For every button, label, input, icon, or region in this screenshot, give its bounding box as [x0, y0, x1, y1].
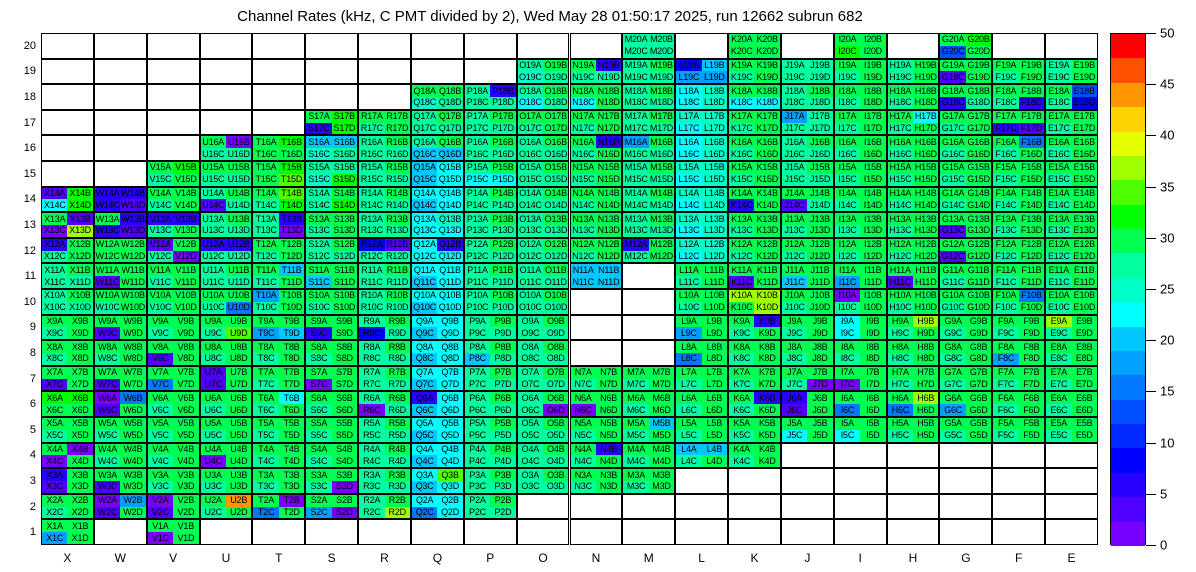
channel-cell [42, 60, 67, 72]
module-cell: K19AK19BK19CK19D [728, 59, 781, 85]
channel-cell [1072, 34, 1097, 46]
channel-cell [888, 507, 913, 519]
channel-cell: Q8A [412, 341, 437, 353]
channel-cell: P10B [490, 290, 515, 302]
module-cell: Q16AQ16BQ16CQ16D [411, 135, 464, 161]
module-cell: R15AR15BR15CR15D [358, 161, 411, 187]
channel-cell: R12C [359, 251, 384, 263]
channel-cell [95, 60, 120, 72]
module-cell: O19AO19BO19CO19D [517, 59, 570, 85]
colorbar-tick [1146, 545, 1156, 546]
module-cell [94, 59, 147, 85]
channel-cell: M13A [623, 213, 648, 225]
module-cell: M20AM20BM20CM20D [622, 33, 675, 59]
channel-cell: U7A [201, 367, 226, 379]
channel-cell [1046, 481, 1071, 493]
channel-cell [42, 46, 67, 58]
channel-cell [201, 532, 226, 544]
channel-cell: R4C [359, 455, 384, 467]
channel-cell: R3B [385, 469, 410, 481]
channel-cell: N12A [571, 239, 596, 251]
channel-cell: L14D [702, 199, 727, 211]
channel-cell: W9C [95, 327, 120, 339]
channel-cell: R8A [359, 341, 384, 353]
channel-cell [1046, 507, 1071, 519]
channel-cell: U4C [201, 455, 226, 467]
module-cell [728, 519, 781, 545]
channel-cell: S5B [332, 418, 357, 430]
channel-cell [385, 520, 410, 532]
module-cell: S17AS17BS17CS17D [305, 110, 358, 136]
channel-cell [201, 97, 226, 109]
channel-cell: F12A [993, 239, 1018, 251]
module-cell: T15AT15BT15CT15D [252, 161, 305, 187]
channel-cell: O5A [518, 418, 543, 430]
channel-cell [465, 71, 490, 83]
channel-cell: G11B [966, 264, 991, 276]
channel-cell: R17D [385, 123, 410, 135]
channel-cell [148, 148, 173, 160]
module-cell: J10AJ10BJ10CJ10D [781, 289, 834, 315]
module-cell: N12AN12BN12CN12D [570, 238, 623, 264]
channel-cell: Q14D [437, 199, 462, 211]
channel-cell: O11D [543, 276, 568, 288]
channel-cell: F19B [1019, 60, 1044, 72]
channel-cell: S14C [306, 199, 331, 211]
module-cell: K11AK11BK11CK11D [728, 263, 781, 289]
channel-cell: K19B [754, 60, 779, 72]
channel-cell [95, 71, 120, 83]
channel-cell [490, 34, 515, 46]
channel-cell: S2B [332, 495, 357, 507]
channel-cell: K7D [754, 379, 779, 391]
channel-cell: V6A [148, 392, 173, 404]
channel-cell: T8C [253, 353, 278, 365]
channel-cell: X1A [42, 520, 67, 532]
module-cell: P14AP14BP14CP14D [464, 187, 517, 213]
channel-cell: O17B [543, 111, 568, 123]
channel-cell: L10D [702, 302, 727, 314]
channel-cell [120, 532, 145, 544]
channel-cell: H15A [888, 162, 913, 174]
module-cell: L10AL10BL10CL10D [675, 289, 728, 315]
channel-cell [623, 327, 648, 339]
channel-cell: L9A [676, 316, 701, 328]
channel-cell: H9A [888, 316, 913, 328]
channel-cell: I9A [835, 316, 860, 328]
channel-cell: R11A [359, 264, 384, 276]
channel-cell: K8B [754, 341, 779, 353]
module-cell: K10AK10BK10CK10D [728, 289, 781, 315]
channel-cell: X4D [67, 455, 92, 467]
channel-cell: Q6A [412, 392, 437, 404]
channel-cell: I5C [835, 430, 860, 442]
channel-cell: V5B [173, 418, 198, 430]
channel-cell [518, 520, 543, 532]
channel-cell [67, 162, 92, 174]
channel-cell [173, 46, 198, 58]
channel-cell: P15A [465, 162, 490, 174]
channel-cell: H6C [888, 404, 913, 416]
module-cell: G14AG14BG14CG14D [939, 187, 992, 213]
channel-cell: J5A [782, 418, 807, 430]
channel-cell [42, 174, 67, 186]
channel-cell: Q4C [412, 455, 437, 467]
channel-cell: K9B [754, 316, 779, 328]
channel-cell [465, 520, 490, 532]
module-cell: I18AI18BI18CI18D [834, 84, 887, 110]
channel-cell [1072, 481, 1097, 493]
channel-cell: X6B [67, 392, 92, 404]
channel-cell: H5D [913, 430, 938, 442]
channel-cell: W7B [120, 367, 145, 379]
channel-cell [279, 71, 304, 83]
channel-cell [623, 353, 648, 365]
channel-cell [279, 85, 304, 97]
module-cell [94, 110, 147, 136]
channel-cell: E19B [1072, 60, 1097, 72]
channel-cell: U6B [226, 392, 251, 404]
channel-cell: O19D [543, 71, 568, 83]
channel-cell: T3B [279, 469, 304, 481]
module-cell [939, 519, 992, 545]
module-cell: Q14AQ14BQ14CQ14D [411, 187, 464, 213]
channel-cell: N4D [596, 455, 621, 467]
module-cell: E10AE10BE10CE10D [1045, 289, 1098, 315]
channel-cell: K10C [729, 302, 754, 314]
colorbar-tick-label: 25 [1160, 282, 1174, 297]
channel-cell [782, 532, 807, 544]
module-cell: T6AT6BT6CT6D [252, 391, 305, 417]
module-cell: Q11AQ11BQ11CQ11D [411, 263, 464, 289]
module-cell [305, 33, 358, 59]
channel-cell: J15B [807, 162, 832, 174]
channel-cell: E6D [1072, 404, 1097, 416]
module-cell: S11AS11BS11CS11D [305, 263, 358, 289]
module-cell: P16AP16BP16CP16D [464, 135, 517, 161]
channel-cell: K17A [729, 111, 754, 123]
channel-cell: E11B [1072, 264, 1097, 276]
channel-cell: I7D [860, 379, 885, 391]
module-cell: O16AO16BO16CO16D [517, 135, 570, 161]
channel-cell: L11A [676, 264, 701, 276]
channel-cell [729, 532, 754, 544]
module-cell: E9AE9BE9CE9D [1045, 315, 1098, 341]
channel-cell: V15A [148, 162, 173, 174]
channel-cell: Q11C [412, 276, 437, 288]
channel-cell [306, 34, 331, 46]
module-cell: G8AG8BG8CG8D [939, 340, 992, 366]
channel-cell: Q18A [412, 85, 437, 97]
channel-cell: E11A [1046, 264, 1071, 276]
channel-cell: M12A [623, 239, 648, 251]
channel-cell: V7B [173, 367, 198, 379]
channel-cell: U11D [226, 276, 251, 288]
channel-cell: N13C [571, 225, 596, 237]
channel-cell [437, 46, 462, 58]
channel-cell: P11D [490, 276, 515, 288]
channel-cell: J12A [782, 239, 807, 251]
module-cell: N11AN11BN11CN11D [570, 263, 623, 289]
channel-cell [253, 34, 278, 46]
channel-cell: P2D [490, 507, 515, 519]
channel-cell: P12D [490, 251, 515, 263]
module-cell [147, 84, 200, 110]
channel-cell [940, 481, 965, 493]
module-cell: E5AE5BE5CE5D [1045, 417, 1098, 443]
module-cell: W3AW3BW3CW3D [94, 468, 147, 494]
module-cell: I10AI10BI10CI10D [834, 289, 887, 315]
channel-cell: W3B [120, 469, 145, 481]
channel-cell: M20D [649, 46, 674, 58]
channel-cell: K5C [729, 430, 754, 442]
channel-cell: L17B [702, 111, 727, 123]
channel-cell [42, 85, 67, 97]
module-cell: F16AF16BF16CF16D [992, 135, 1045, 161]
channel-cell: W4C [95, 455, 120, 467]
channel-cell: R5B [385, 418, 410, 430]
channel-cell: I6B [860, 392, 885, 404]
channel-cell: S17C [306, 123, 331, 135]
channel-cell [42, 136, 67, 148]
channel-cell: V4A [148, 444, 173, 456]
module-cell: J14AJ14BJ14CJ14D [781, 187, 834, 213]
module-cell: W8AW8BW8CW8D [94, 340, 147, 366]
channel-cell: P8B [490, 341, 515, 353]
channel-cell: N7C [571, 379, 596, 391]
module-cell: I12AI12BI12CI12D [834, 238, 887, 264]
channel-cell: X10C [42, 302, 67, 314]
channel-cell: V4C [148, 455, 173, 467]
channel-cell: E12A [1046, 239, 1071, 251]
colorbar-tick [1146, 289, 1156, 290]
channel-cell [385, 34, 410, 46]
channel-cell [148, 60, 173, 72]
channel-cell: Q7D [437, 379, 462, 391]
module-cell [570, 494, 623, 520]
channel-cell: U14C [201, 199, 226, 211]
page-title: Channel Rates (kHz, C PMT divided by 2),… [0, 8, 1100, 25]
channel-cell: I20C [835, 46, 860, 58]
module-cell [252, 33, 305, 59]
channel-cell: M19B [649, 60, 674, 72]
channel-cell: W10D [120, 302, 145, 314]
channel-cell: K20C [729, 46, 754, 58]
channel-cell: H16C [888, 148, 913, 160]
module-cell: U2AU2BU2CU2D [200, 494, 253, 520]
channel-cell: R13D [385, 225, 410, 237]
channel-cell: H7C [888, 379, 913, 391]
channel-cell [306, 85, 331, 97]
module-cell: J12AJ12BJ12CJ12D [781, 238, 834, 264]
channel-cell: X14A [42, 188, 67, 200]
channel-cell: R17B [385, 111, 410, 123]
channel-cell: U9B [226, 316, 251, 328]
module-cell: H19AH19BH19CH19D [887, 59, 940, 85]
channel-cell: M20B [649, 34, 674, 46]
channel-cell: U6D [226, 404, 251, 416]
channel-cell: O17A [518, 111, 543, 123]
channel-cell: G9B [966, 316, 991, 328]
channel-cell [649, 290, 674, 302]
channel-cell: K7A [729, 367, 754, 379]
channel-cell [888, 520, 913, 532]
channel-cell [306, 520, 331, 532]
channel-cell: O15B [543, 162, 568, 174]
module-cell: M7AM7BM7CM7D [622, 366, 675, 392]
channel-cell: W13A [95, 213, 120, 225]
channel-cell [120, 85, 145, 97]
module-cell [834, 519, 887, 545]
channel-cell: Q3B [437, 469, 462, 481]
channel-cell: H19A [888, 60, 913, 72]
module-cell: O4AO4BO4CO4D [517, 443, 570, 469]
module-cell: P11AP11BP11CP11D [464, 263, 517, 289]
channel-cell: P16B [490, 136, 515, 148]
channel-cell [67, 97, 92, 109]
channel-cell: G10C [940, 302, 965, 314]
channel-cell [279, 123, 304, 135]
channel-cell [42, 123, 67, 135]
module-cell: T10AT10BT10CT10D [252, 289, 305, 315]
channel-cell: O7D [543, 379, 568, 391]
colorbar-tick [1146, 33, 1156, 34]
channel-cell: H18A [888, 85, 913, 97]
module-cell: F7AF7BF7CF7D [992, 366, 1045, 392]
channel-cell: R16A [359, 136, 384, 148]
module-cell: N6AN6BN6CN6D [570, 391, 623, 417]
channel-cell: F19C [993, 71, 1018, 83]
channel-cell [412, 71, 437, 83]
module-cell: S6AS6BS6CS6D [305, 391, 358, 417]
channel-cell: E9C [1046, 327, 1071, 339]
channel-cell: J13D [807, 225, 832, 237]
channel-cell: F10A [993, 290, 1018, 302]
module-cell: Q2AQ2BQ2CQ2D [411, 494, 464, 520]
channel-cell: W11B [120, 264, 145, 276]
channel-cell [95, 162, 120, 174]
channel-cell [782, 481, 807, 493]
channel-cell: T7B [279, 367, 304, 379]
module-cell: I8AI8BI8CI8D [834, 340, 887, 366]
channel-cell: F7B [1019, 367, 1044, 379]
channel-cell: N13D [596, 225, 621, 237]
module-cell: Q17AQ17BQ17CQ17D [411, 110, 464, 136]
channel-cell: V10D [173, 302, 198, 314]
channel-cell [201, 111, 226, 123]
channel-cell: Q15B [437, 162, 462, 174]
channel-cell: G8B [966, 341, 991, 353]
channel-cell [148, 34, 173, 46]
channel-cell [966, 455, 991, 467]
channel-cell: W11A [95, 264, 120, 276]
channel-cell: Q16C [412, 148, 437, 160]
module-cell: O13AO13BO13CO13D [517, 212, 570, 238]
channel-cell [518, 46, 543, 58]
channel-cell [596, 532, 621, 544]
channel-cell: R15D [385, 174, 410, 186]
channel-cell: J16D [807, 148, 832, 160]
channel-cell [729, 507, 754, 519]
channel-cell: N18D [596, 97, 621, 109]
channel-cell [596, 290, 621, 302]
channel-cell: E18C [1046, 97, 1071, 109]
channel-cell: H17D [913, 123, 938, 135]
module-cell: M6AM6BM6CM6D [622, 391, 675, 417]
module-cell [464, 519, 517, 545]
module-cell: F10AF10BF10CF10D [992, 289, 1045, 315]
channel-cell [67, 123, 92, 135]
channel-cell: S2A [306, 495, 331, 507]
channel-cell [42, 97, 67, 109]
module-cell: V15AV15BV15CV15D [147, 161, 200, 187]
module-cell: Q15AQ15BQ15CQ15D [411, 161, 464, 187]
channel-cell [201, 34, 226, 46]
channel-cell: X6A [42, 392, 67, 404]
channel-cell: R16C [359, 148, 384, 160]
channel-cell [1046, 520, 1071, 532]
channel-cell [385, 97, 410, 109]
module-cell [41, 161, 94, 187]
channel-cell: E10A [1046, 290, 1071, 302]
channel-cell [437, 71, 462, 83]
channel-cell [993, 34, 1018, 46]
channel-cell: N15D [596, 174, 621, 186]
channel-cell: X10D [67, 302, 92, 314]
channel-cell: X6C [42, 404, 67, 416]
channel-cell: J10D [807, 302, 832, 314]
channel-cell [359, 85, 384, 97]
channel-cell [649, 495, 674, 507]
module-cell: R6AR6BR6CR6D [358, 391, 411, 417]
module-cell: U13AU13BU13CU13D [200, 212, 253, 238]
module-cell: P9AP9BP9CP9D [464, 315, 517, 341]
channel-cell: S16B [332, 136, 357, 148]
channel-cell [253, 85, 278, 97]
channel-cell: T10A [253, 290, 278, 302]
channel-cell: J19C [782, 71, 807, 83]
channel-cell: P16C [465, 148, 490, 160]
channel-cell: E11C [1046, 276, 1071, 288]
channel-cell: F9A [993, 316, 1018, 328]
channel-cell: U7B [226, 367, 251, 379]
module-cell: N16AN16BN16CN16D [570, 135, 623, 161]
channel-cell: W11D [120, 276, 145, 288]
channel-cell: J6C [782, 404, 807, 416]
channel-cell: O15C [518, 174, 543, 186]
channel-cell: E8A [1046, 341, 1071, 353]
channel-cell: K19C [729, 71, 754, 83]
channel-cell [940, 495, 965, 507]
channel-cell [754, 507, 779, 519]
channel-cell: K6C [729, 404, 754, 416]
channel-cell [888, 46, 913, 58]
channel-cell: E17D [1072, 123, 1097, 135]
channel-cell: L18A [676, 85, 701, 97]
channel-cell: P10A [465, 290, 490, 302]
channel-cell: M5A [623, 418, 648, 430]
channel-cell: U13D [226, 225, 251, 237]
channel-cell [596, 316, 621, 328]
channel-cell: J16C [782, 148, 807, 160]
module-cell: V6AV6BV6CV6D [147, 391, 200, 417]
module-cell: S10AS10BS10CS10D [305, 289, 358, 315]
channel-cell [702, 532, 727, 544]
channel-cell: R7A [359, 367, 384, 379]
module-cell: M15AM15BM15CM15D [622, 161, 675, 187]
channel-cell: I13B [860, 213, 885, 225]
channel-cell [201, 46, 226, 58]
